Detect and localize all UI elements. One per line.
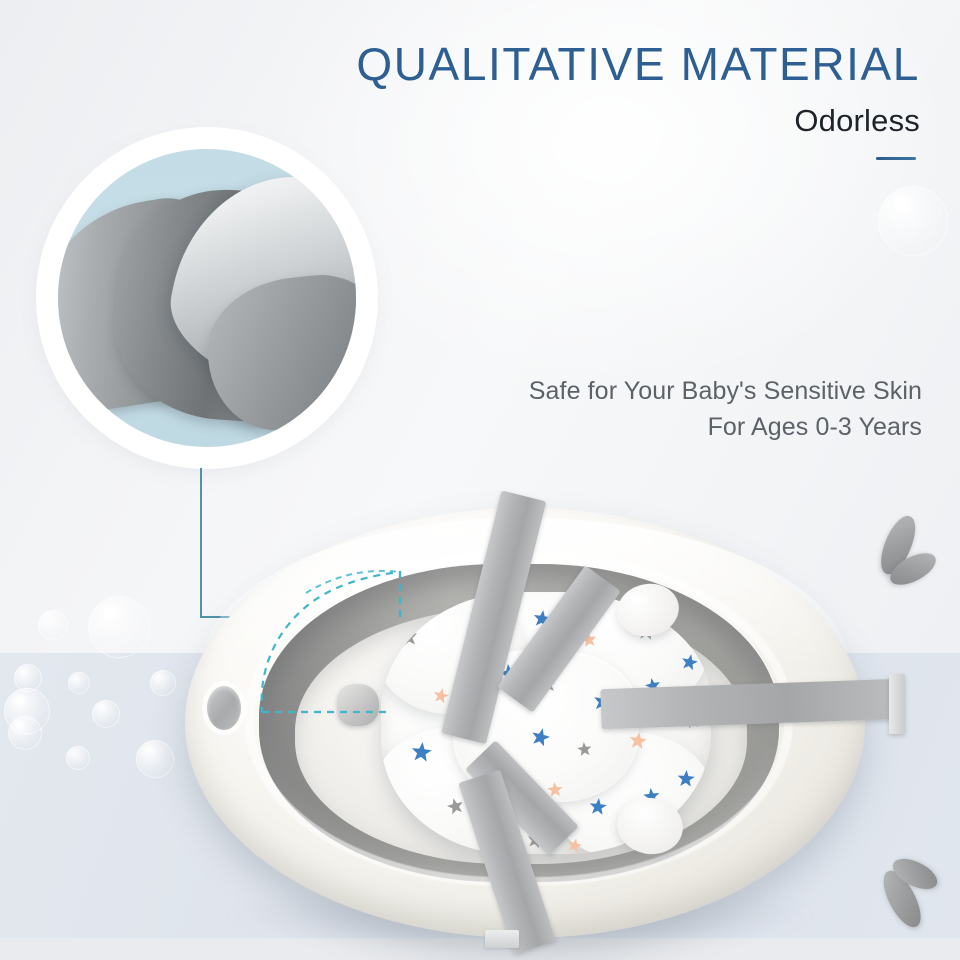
star-0 bbox=[398, 627, 419, 648]
bubble-9 bbox=[136, 740, 174, 778]
strap-clip-bottom bbox=[485, 930, 519, 948]
baby-bathtub bbox=[185, 508, 865, 938]
material-closeup-circle bbox=[47, 138, 367, 458]
body-line-1: Safe for Your Baby's Sensitive Skin bbox=[302, 374, 922, 410]
star-2 bbox=[410, 741, 433, 764]
body-line-2: For Ages 0-3 Years bbox=[302, 410, 922, 446]
page-title: QUALITATIVE MATERIAL bbox=[300, 40, 920, 88]
title-divider bbox=[876, 157, 916, 160]
bubble-1 bbox=[38, 610, 68, 640]
bubble-4 bbox=[8, 716, 42, 750]
star-17 bbox=[576, 741, 592, 757]
star-19 bbox=[565, 836, 583, 854]
bubble-6 bbox=[150, 670, 176, 696]
strap-buckle bbox=[889, 674, 905, 734]
bubble-0 bbox=[88, 596, 150, 658]
bubble-10 bbox=[878, 186, 948, 256]
bubble-5 bbox=[68, 672, 90, 694]
body-copy: Safe for Your Baby's Sensitive Skin For … bbox=[302, 374, 922, 445]
star-4 bbox=[399, 822, 421, 844]
material-closeup-inner bbox=[58, 149, 356, 447]
tub-well-nub bbox=[337, 684, 379, 726]
star-22 bbox=[628, 731, 648, 751]
bubble-8 bbox=[66, 746, 90, 770]
bubble-7 bbox=[92, 700, 120, 728]
star-25 bbox=[679, 652, 699, 672]
star-28 bbox=[682, 817, 699, 834]
drain-plug bbox=[207, 686, 241, 730]
subtitle: Odorless bbox=[300, 103, 920, 139]
star-18 bbox=[588, 797, 608, 817]
product-marketing-image: QUALITATIVE MATERIAL Odorless Safe for Y… bbox=[0, 0, 960, 960]
star-27 bbox=[676, 769, 695, 788]
